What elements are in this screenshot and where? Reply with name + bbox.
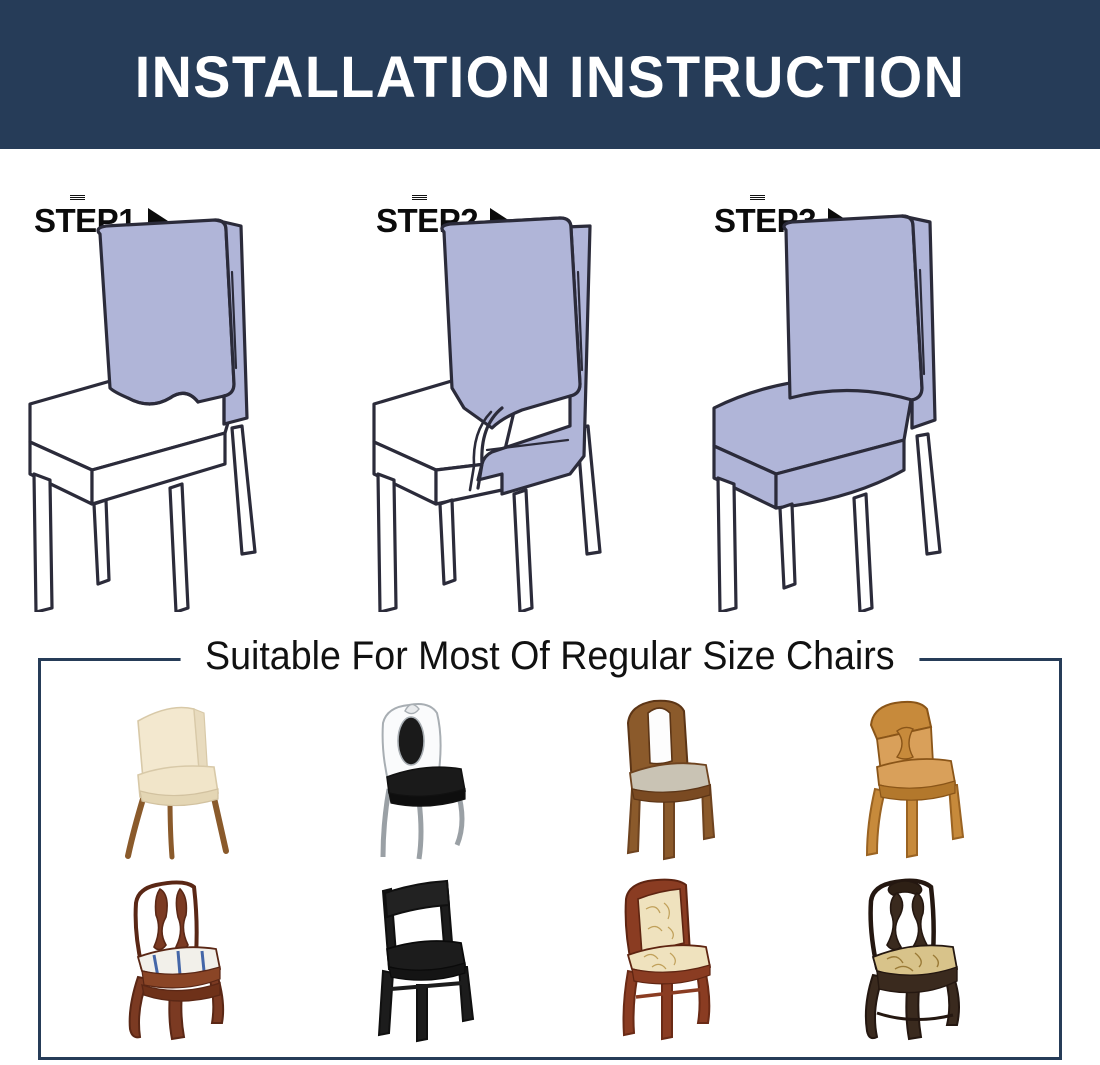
step-2-caption: Slipcover drawn down over the right half…	[352, 160, 353, 161]
step-1-caption: Slipcover pulled over the chair backrest…	[10, 160, 11, 161]
chair-cell-black-wooden-chair: Simple black wooden side chair with hori…	[305, 870, 550, 1050]
chair-cell-walnut-keyhole-chair: Dark walnut chair with keyhole splat bac…	[550, 690, 795, 870]
chair-cell-antique-carved-chair: Dark antique carved chair with tapestry …	[795, 870, 1040, 1050]
chair-cell-mahogany-floral-chair: Mahogany frame chair with cream floral p…	[550, 870, 795, 1050]
page-title: INSTALLATION INSTRUCTION	[22, 44, 1078, 111]
chair-cell-silver-baroque-chair: Ornate silver and white baroque frame wi…	[305, 690, 550, 870]
chair-cell-chippendale-mahogany-chair: Carved mahogany Chippendale chair, blue …	[60, 870, 305, 1050]
step-2: STEP2	[352, 160, 692, 620]
step-1: STEP1	[10, 160, 350, 620]
header-banner: INSTALLATION INSTRUCTION	[0, 0, 1100, 149]
step-3-caption: Slipcover fully fitted over backrest and…	[690, 160, 691, 161]
installation-instruction-page: INSTALLATION INSTRUCTION STEP1	[0, 0, 1100, 1065]
step-1-illustration	[10, 212, 350, 612]
chair-cell-cream-upholstered-chair: Cream upholstered parsons chair with spl…	[60, 690, 305, 870]
step-2-illustration	[352, 212, 692, 612]
chair-photo-grid: Cream upholstered parsons chair with spl…	[60, 690, 1040, 1050]
steps-row: STEP1	[0, 160, 1100, 620]
step-3-illustration	[690, 212, 1030, 612]
step-3: STEP3	[690, 160, 1030, 620]
chair-cell-golden-oak-chair: Golden oak chair with vase shaped splat …	[795, 690, 1040, 870]
